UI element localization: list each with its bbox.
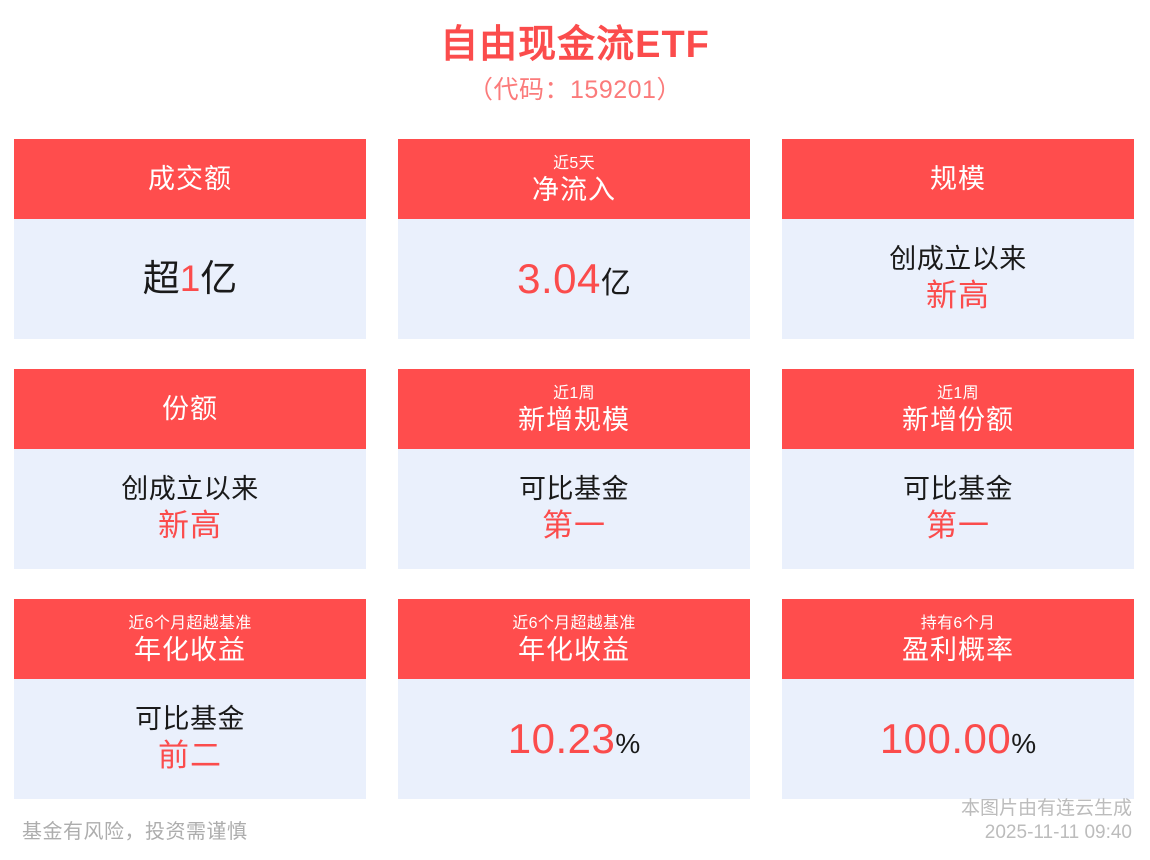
page-header: 自由现金流ETF （代码：159201） bbox=[0, 0, 1150, 107]
card-value-bottom: 第一 bbox=[542, 507, 606, 545]
card-value-bottom: 新高 bbox=[158, 507, 222, 545]
card-header-main: 盈利概率 bbox=[902, 634, 1014, 666]
card-value-bottom: 新高 bbox=[926, 277, 990, 315]
card-header-small: 近6个月超越基准 bbox=[128, 614, 251, 634]
card-header-main: 年化收益 bbox=[134, 634, 246, 666]
card-header-main: 新增份额 bbox=[902, 404, 1014, 436]
value-unit: % bbox=[1011, 728, 1036, 759]
card-header-main: 新增规模 bbox=[518, 404, 630, 436]
risk-disclaimer: 基金有风险，投资需谨慎 bbox=[22, 820, 248, 846]
generated-timestamp: 2025-11-11 09:40 bbox=[961, 821, 1132, 846]
card-header-shares: 份额 bbox=[14, 369, 366, 449]
metric-card-new-shares-1w[interactable]: 近1周 新增份额 可比基金 第一 bbox=[782, 369, 1134, 569]
metric-card-excess-annualized-value[interactable]: 近6个月超越基准 年化收益 10.23% bbox=[398, 599, 750, 799]
card-body-scale: 创成立以来 新高 bbox=[782, 219, 1134, 339]
value-number: 3.04 bbox=[517, 255, 601, 302]
page-subtitle-code: （代码：159201） bbox=[0, 74, 1150, 108]
card-body-new-shares-1w: 可比基金 第一 bbox=[782, 449, 1134, 569]
image-source-label: 本图片由有连云生成 bbox=[961, 797, 1132, 822]
metric-card-shares[interactable]: 份额 创成立以来 新高 bbox=[14, 369, 366, 569]
value-suffix: 亿 bbox=[601, 267, 631, 300]
card-body-excess-annualized-rank: 可比基金 前二 bbox=[14, 679, 366, 799]
card-header-new-shares-1w: 近1周 新增份额 bbox=[782, 369, 1134, 449]
card-value: 3.04亿 bbox=[517, 254, 631, 304]
card-value-top: 可比基金 bbox=[903, 473, 1013, 507]
card-header-small: 近1周 bbox=[553, 384, 595, 404]
value-suffix: 亿 bbox=[200, 258, 237, 299]
metric-card-net-inflow-5d[interactable]: 近5天 净流入 3.04亿 bbox=[398, 139, 750, 339]
card-value: 超1亿 bbox=[143, 257, 238, 301]
card-header-small: 近5天 bbox=[553, 154, 595, 174]
card-header-main: 净流入 bbox=[532, 174, 616, 206]
card-body-shares: 创成立以来 新高 bbox=[14, 449, 366, 569]
card-value-bottom: 第一 bbox=[926, 507, 990, 545]
card-header-main: 成交额 bbox=[148, 163, 232, 195]
card-value-top: 创成立以来 bbox=[889, 243, 1027, 277]
metric-card-turnover[interactable]: 成交额 超1亿 bbox=[14, 139, 366, 339]
metric-card-grid: 成交额 超1亿 近5天 净流入 3.04亿 规模 创成立以来 新高 份额 创成立… bbox=[14, 139, 1136, 799]
card-header-main: 份额 bbox=[162, 393, 218, 425]
value-number: 1 bbox=[180, 258, 201, 299]
card-header-profit-probability-6m: 持有6个月 盈利概率 bbox=[782, 599, 1134, 679]
card-value-bottom: 前二 bbox=[158, 737, 222, 775]
card-value-top: 可比基金 bbox=[519, 473, 629, 507]
value-prefix: 超 bbox=[143, 258, 180, 299]
page-title: 自由现金流ETF bbox=[0, 22, 1150, 70]
card-value: 10.23% bbox=[508, 714, 641, 764]
card-body-turnover: 超1亿 bbox=[14, 219, 366, 339]
card-header-net-inflow-5d: 近5天 净流入 bbox=[398, 139, 750, 219]
metric-card-scale[interactable]: 规模 创成立以来 新高 bbox=[782, 139, 1134, 339]
card-header-turnover: 成交额 bbox=[14, 139, 366, 219]
footer-meta: 本图片由有连云生成 2025-11-11 09:40 bbox=[961, 797, 1132, 846]
card-header-small: 近6个月超越基准 bbox=[512, 614, 635, 634]
metric-card-excess-annualized-rank[interactable]: 近6个月超越基准 年化收益 可比基金 前二 bbox=[14, 599, 366, 799]
card-body-new-scale-1w: 可比基金 第一 bbox=[398, 449, 750, 569]
card-header-main: 规模 bbox=[930, 163, 986, 195]
card-header-excess-annualized-rank: 近6个月超越基准 年化收益 bbox=[14, 599, 366, 679]
card-header-scale: 规模 bbox=[782, 139, 1134, 219]
card-value: 100.00% bbox=[880, 714, 1036, 764]
value-number: 10.23 bbox=[508, 715, 616, 762]
value-number: 100.00 bbox=[880, 715, 1011, 762]
card-value-top: 创成立以来 bbox=[121, 473, 259, 507]
card-header-excess-annualized-value: 近6个月超越基准 年化收益 bbox=[398, 599, 750, 679]
metric-card-profit-probability-6m[interactable]: 持有6个月 盈利概率 100.00% bbox=[782, 599, 1134, 799]
value-unit: % bbox=[615, 728, 640, 759]
card-header-small: 持有6个月 bbox=[921, 614, 995, 634]
page-footer: 基金有风险，投资需谨慎 本图片由有连云生成 2025-11-11 09:40 bbox=[0, 790, 1150, 860]
card-body-excess-annualized-value: 10.23% bbox=[398, 679, 750, 799]
card-body-net-inflow-5d: 3.04亿 bbox=[398, 219, 750, 339]
card-body-profit-probability-6m: 100.00% bbox=[782, 679, 1134, 799]
card-header-small: 近1周 bbox=[937, 384, 979, 404]
card-header-new-scale-1w: 近1周 新增规模 bbox=[398, 369, 750, 449]
card-header-main: 年化收益 bbox=[518, 634, 630, 666]
metric-card-new-scale-1w[interactable]: 近1周 新增规模 可比基金 第一 bbox=[398, 369, 750, 569]
card-value-top: 可比基金 bbox=[135, 703, 245, 737]
